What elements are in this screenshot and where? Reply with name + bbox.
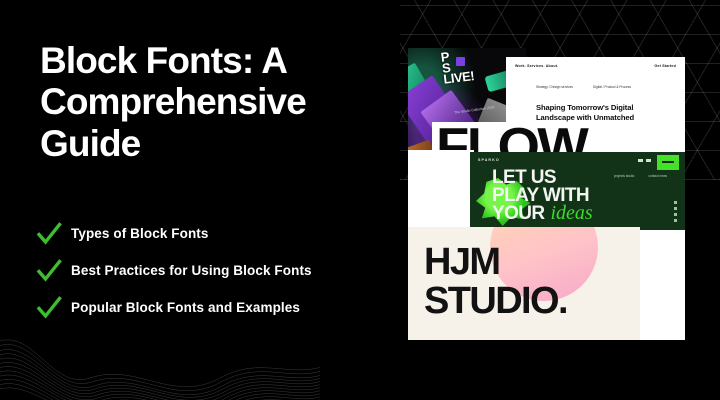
green-panel-nav-left: projects studio [614,174,635,178]
design-showcase-collage: P S LIVE! The Studio Collection 2024 Wor… [408,22,685,340]
list-item: Types of Block Fonts [36,215,396,252]
left-content-column: Block Fonts: A Comprehensive Guide Types… [0,0,400,400]
list-item: Best Practices for Using Block Fonts [36,252,396,289]
studio-wordmark-line1: HJM [424,243,499,281]
feature-bullet-list: Types of Block Fonts Best Practices for … [36,215,396,326]
green-panel-line3-italic: ideas [551,204,593,223]
green-panel-toggle [638,159,651,162]
studio-wordmark-line2: STUDIO. [424,282,567,320]
green-panel-logo: SPARKO [478,158,500,162]
white-panel-meta-left: Strategy / Design services [536,85,573,89]
white-panel-topbar: Work. Services. About. Get Started [515,64,676,68]
green-panel-nav: projects studio contact news [614,174,667,178]
dark-panel-headline: P S LIVE! [440,48,475,84]
page-title: Block Fonts: A Comprehensive Guide [40,40,390,164]
green-panel-scroll-rail [674,201,677,222]
white-panel-nav-left: Work. Services. About. [515,64,558,68]
green-panel-nav-right: contact news [648,174,667,178]
collage-white-sliver [408,150,474,228]
list-item-label: Popular Block Fonts and Examples [71,300,300,315]
white-panel-nav-right: Get Started [654,64,676,68]
list-item-label: Best Practices for Using Block Fonts [71,263,312,278]
collage-studio-panel: HJM STUDIO. [408,227,640,340]
white-panel-meta-right: Digital / Product & Process [593,85,631,89]
check-icon [36,258,62,284]
collage-green-panel: SPARKO projects studio contact news LET … [470,152,685,230]
check-icon [36,295,62,321]
green-panel-line3-text: YOUR [492,204,545,223]
list-item: Popular Block Fonts and Examples [36,289,396,326]
check-icon [36,221,62,247]
dark-panel-headline-line3: LIVE! [443,70,475,85]
green-panel-line3: YOUR ideas [492,204,593,223]
white-panel-meta: Strategy / Design services Digital / Pro… [536,85,631,89]
list-item-label: Types of Block Fonts [71,226,209,241]
hamburger-menu-icon[interactable] [657,155,679,170]
